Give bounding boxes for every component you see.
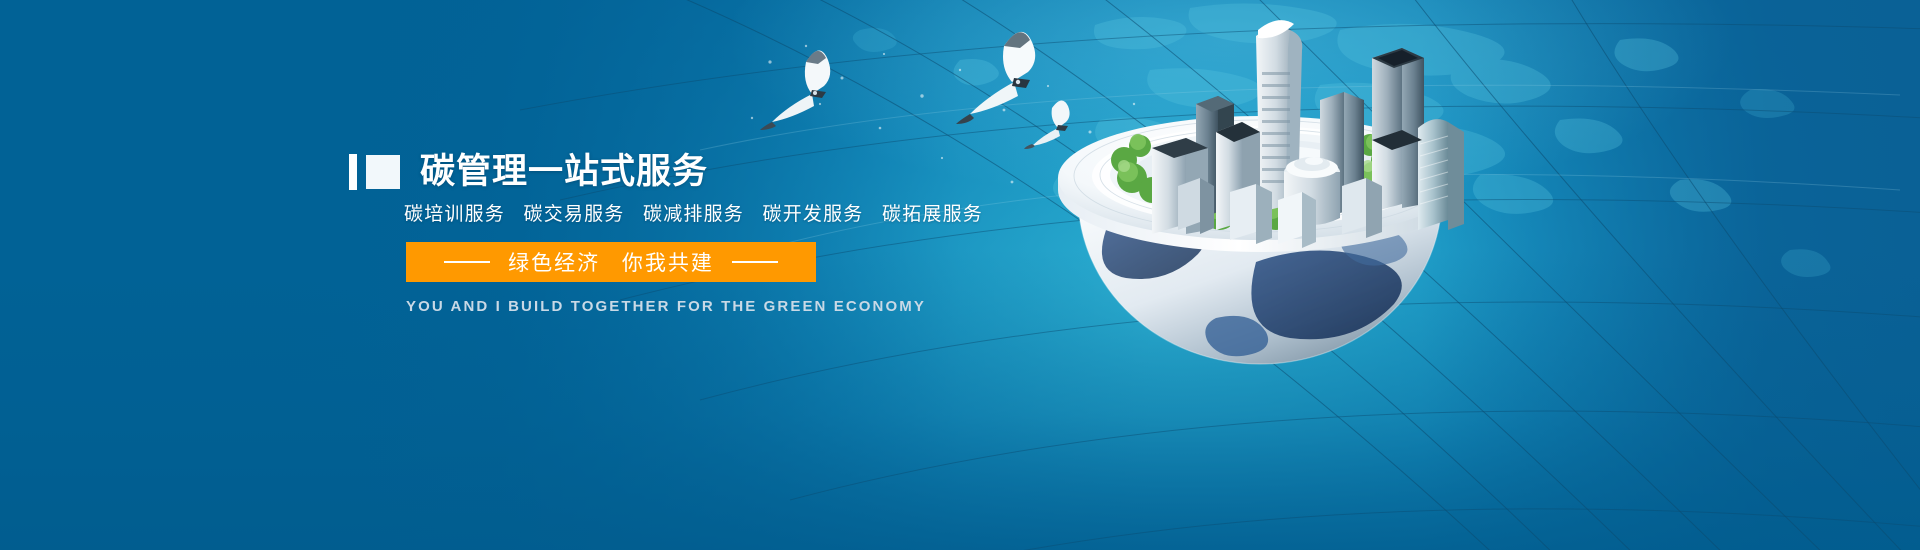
mark-square bbox=[366, 155, 400, 189]
slogan-dash-left bbox=[444, 261, 490, 263]
square-bar-mark-icon bbox=[349, 154, 400, 190]
slogan-text-b: 你我共建 bbox=[622, 252, 714, 275]
seagull-left bbox=[760, 50, 830, 130]
english-tagline: YOU AND I BUILD TOGETHER FOR THE GREEN E… bbox=[406, 298, 1049, 315]
service-item-5: 碳拓展服务 bbox=[882, 204, 983, 225]
service-item-3: 碳减排服务 bbox=[643, 204, 744, 225]
mark-bar bbox=[349, 154, 357, 190]
slogan-dash-right bbox=[732, 261, 778, 263]
banner-copy: 碳管理一站式服务 碳培训服务 碳交易服务 碳减排服务 碳开发服务 碳拓展服务 绿… bbox=[349, 150, 1049, 315]
slogan-text-a: 绿色经济 bbox=[508, 252, 600, 275]
page-title: 碳管理一站式服务 bbox=[420, 152, 708, 192]
seagull-small bbox=[1024, 100, 1070, 149]
slogan-banner: 绿色经济 你我共建 bbox=[406, 242, 816, 282]
service-list: 碳培训服务 碳交易服务 碳减排服务 碳开发服务 碳拓展服务 bbox=[404, 203, 1049, 227]
slogan-text: 绿色经济 你我共建 bbox=[508, 247, 714, 277]
seagull-mid bbox=[956, 32, 1035, 124]
service-item-2: 碳交易服务 bbox=[524, 204, 625, 225]
service-item-1: 碳培训服务 bbox=[404, 204, 505, 225]
hero-banner: 碳管理一站式服务 碳培训服务 碳交易服务 碳减排服务 碳开发服务 碳拓展服务 绿… bbox=[0, 0, 1920, 550]
service-item-4: 碳开发服务 bbox=[763, 204, 864, 225]
title-row: 碳管理一站式服务 bbox=[349, 150, 1049, 194]
